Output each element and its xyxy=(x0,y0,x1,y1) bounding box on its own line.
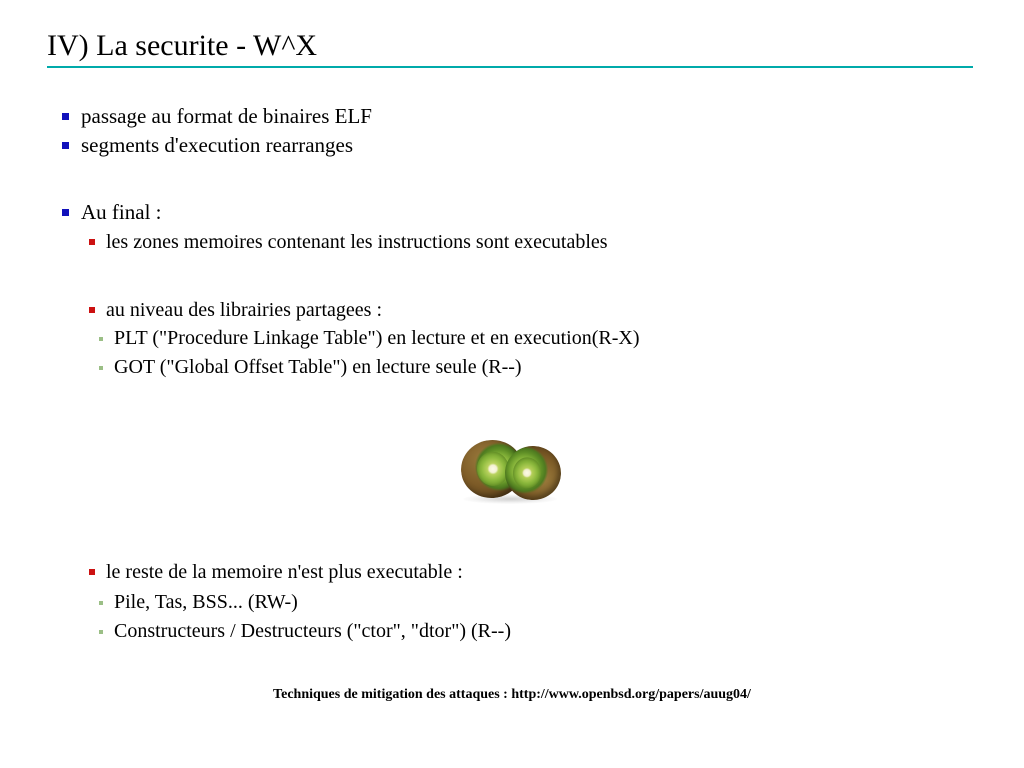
bullet-text: au niveau des librairies partagees : xyxy=(106,298,382,322)
page-title: IV) La securite - W^X xyxy=(47,28,317,64)
bullet-marker-square-red-icon xyxy=(89,239,95,245)
bullet-marker-dot-green-icon xyxy=(99,601,103,605)
bullet-marker-dot-green-icon xyxy=(99,337,103,341)
bullet-text: Pile, Tas, BSS... (RW-) xyxy=(114,590,298,614)
bullet-marker-square-blue-icon xyxy=(62,113,69,120)
bullet-text: passage au format de binaires ELF xyxy=(81,104,372,128)
bullet-marker-dot-green-icon xyxy=(99,366,103,370)
bullet-item-segments-execution: segments d'execution rearranges xyxy=(62,133,353,157)
bullet-item-got: GOT ("Global Offset Table") en lecture s… xyxy=(99,355,522,379)
bullet-marker-square-red-icon xyxy=(89,569,95,575)
bullet-text: Au final : xyxy=(81,200,161,224)
kiwi-fruit-image xyxy=(455,432,565,510)
footer-reference-link: Techniques de mitigation des attaques : … xyxy=(0,686,1024,704)
bullet-marker-square-red-icon xyxy=(89,307,95,313)
bullet-item-plt: PLT ("Procedure Linkage Table") en lectu… xyxy=(99,326,639,350)
bullet-item-pile-tas-bss: Pile, Tas, BSS... (RW-) xyxy=(99,590,298,614)
slide-canvas: IV) La securite - W^X passage au format … xyxy=(0,0,1024,768)
title-underline-rule xyxy=(47,66,973,68)
bullet-item-passage-elf: passage au format de binaires ELF xyxy=(62,104,372,128)
bullet-marker-dot-green-icon xyxy=(99,630,103,634)
bullet-item-au-final: Au final : xyxy=(62,200,161,224)
bullet-item-constructeurs-destructeurs: Constructeurs / Destructeurs ("ctor", "d… xyxy=(99,619,511,643)
bullet-text: les zones memoires contenant les instruc… xyxy=(106,230,608,254)
bullet-marker-square-blue-icon xyxy=(62,142,69,149)
bullet-marker-square-blue-icon xyxy=(62,209,69,216)
bullet-item-librairies-partagees: au niveau des librairies partagees : xyxy=(89,298,382,322)
bullet-item-zones-memoires: les zones memoires contenant les instruc… xyxy=(89,230,608,254)
bullet-text: le reste de la memoire n'est plus execut… xyxy=(106,560,463,584)
bullet-text: Constructeurs / Destructeurs ("ctor", "d… xyxy=(114,619,511,643)
bullet-text: segments d'execution rearranges xyxy=(81,133,353,157)
bullet-text: GOT ("Global Offset Table") en lecture s… xyxy=(114,355,522,379)
bullet-text: PLT ("Procedure Linkage Table") en lectu… xyxy=(114,326,639,350)
bullet-item-reste-memoire: le reste de la memoire n'est plus execut… xyxy=(89,560,463,584)
kiwi-seeds-right xyxy=(513,458,539,487)
